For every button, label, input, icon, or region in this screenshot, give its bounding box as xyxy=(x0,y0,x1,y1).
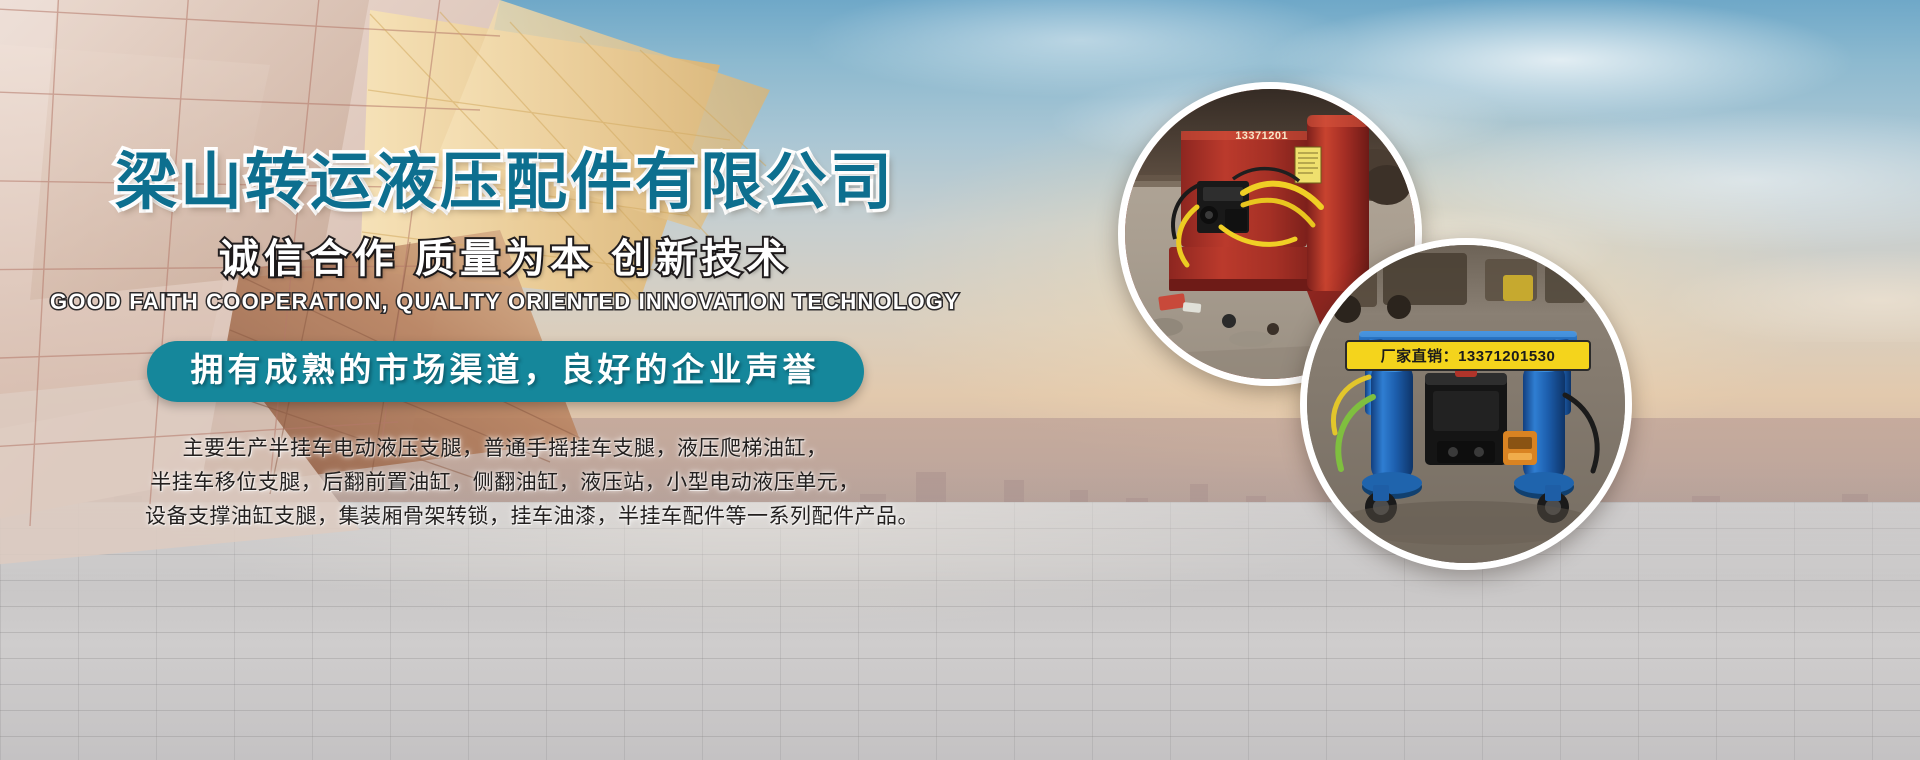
description-line: 主要生产半挂车电动液压支腿，普通手摇挂车支腿，液压爬梯油缸， xyxy=(145,432,865,466)
slogan-english: GOOD FAITH COOPERATION, QUALITY ORIENTED… xyxy=(0,289,1010,315)
highlight-pill: 拥有成熟的市场渠道，良好的企业声誉 xyxy=(147,341,864,402)
plaza-light-wash xyxy=(0,502,1920,760)
description-line: 设备支撑油缸支腿，集装厢骨架转锁，挂车油漆，半挂车配件等一系列配件产品。 xyxy=(145,500,865,534)
highlight-pill-wrap: 拥有成熟的市场渠道，良好的企业声誉 xyxy=(0,341,1010,402)
slogan-chinese: 诚信合作 质量为本 创新技术 xyxy=(0,237,1010,281)
product-description: 主要生产半挂车电动液压支腿，普通手摇挂车支腿，液压爬梯油缸， 半挂车移位支腿，后… xyxy=(145,432,865,534)
blue-hydraulic-unit-photo: 厂家直销：13371201530 xyxy=(1300,238,1632,570)
company-title: 梁山转运液压配件有限公司 xyxy=(0,150,1010,215)
hero-banner: 梁山转运液压配件有限公司 诚信合作 质量为本 创新技术 GOOD FAITH C… xyxy=(0,0,1920,760)
banner-text-stack: 梁山转运液压配件有限公司 诚信合作 质量为本 创新技术 GOOD FAITH C… xyxy=(0,150,1010,534)
description-line: 半挂车移位支腿，后翻前置油缸，侧翻油缸，液压站，小型电动液压单元， xyxy=(145,466,865,500)
highlight-pill-text: 拥有成熟的市场渠道，良好的企业声誉 xyxy=(191,352,820,388)
plaza-ground xyxy=(0,502,1920,760)
